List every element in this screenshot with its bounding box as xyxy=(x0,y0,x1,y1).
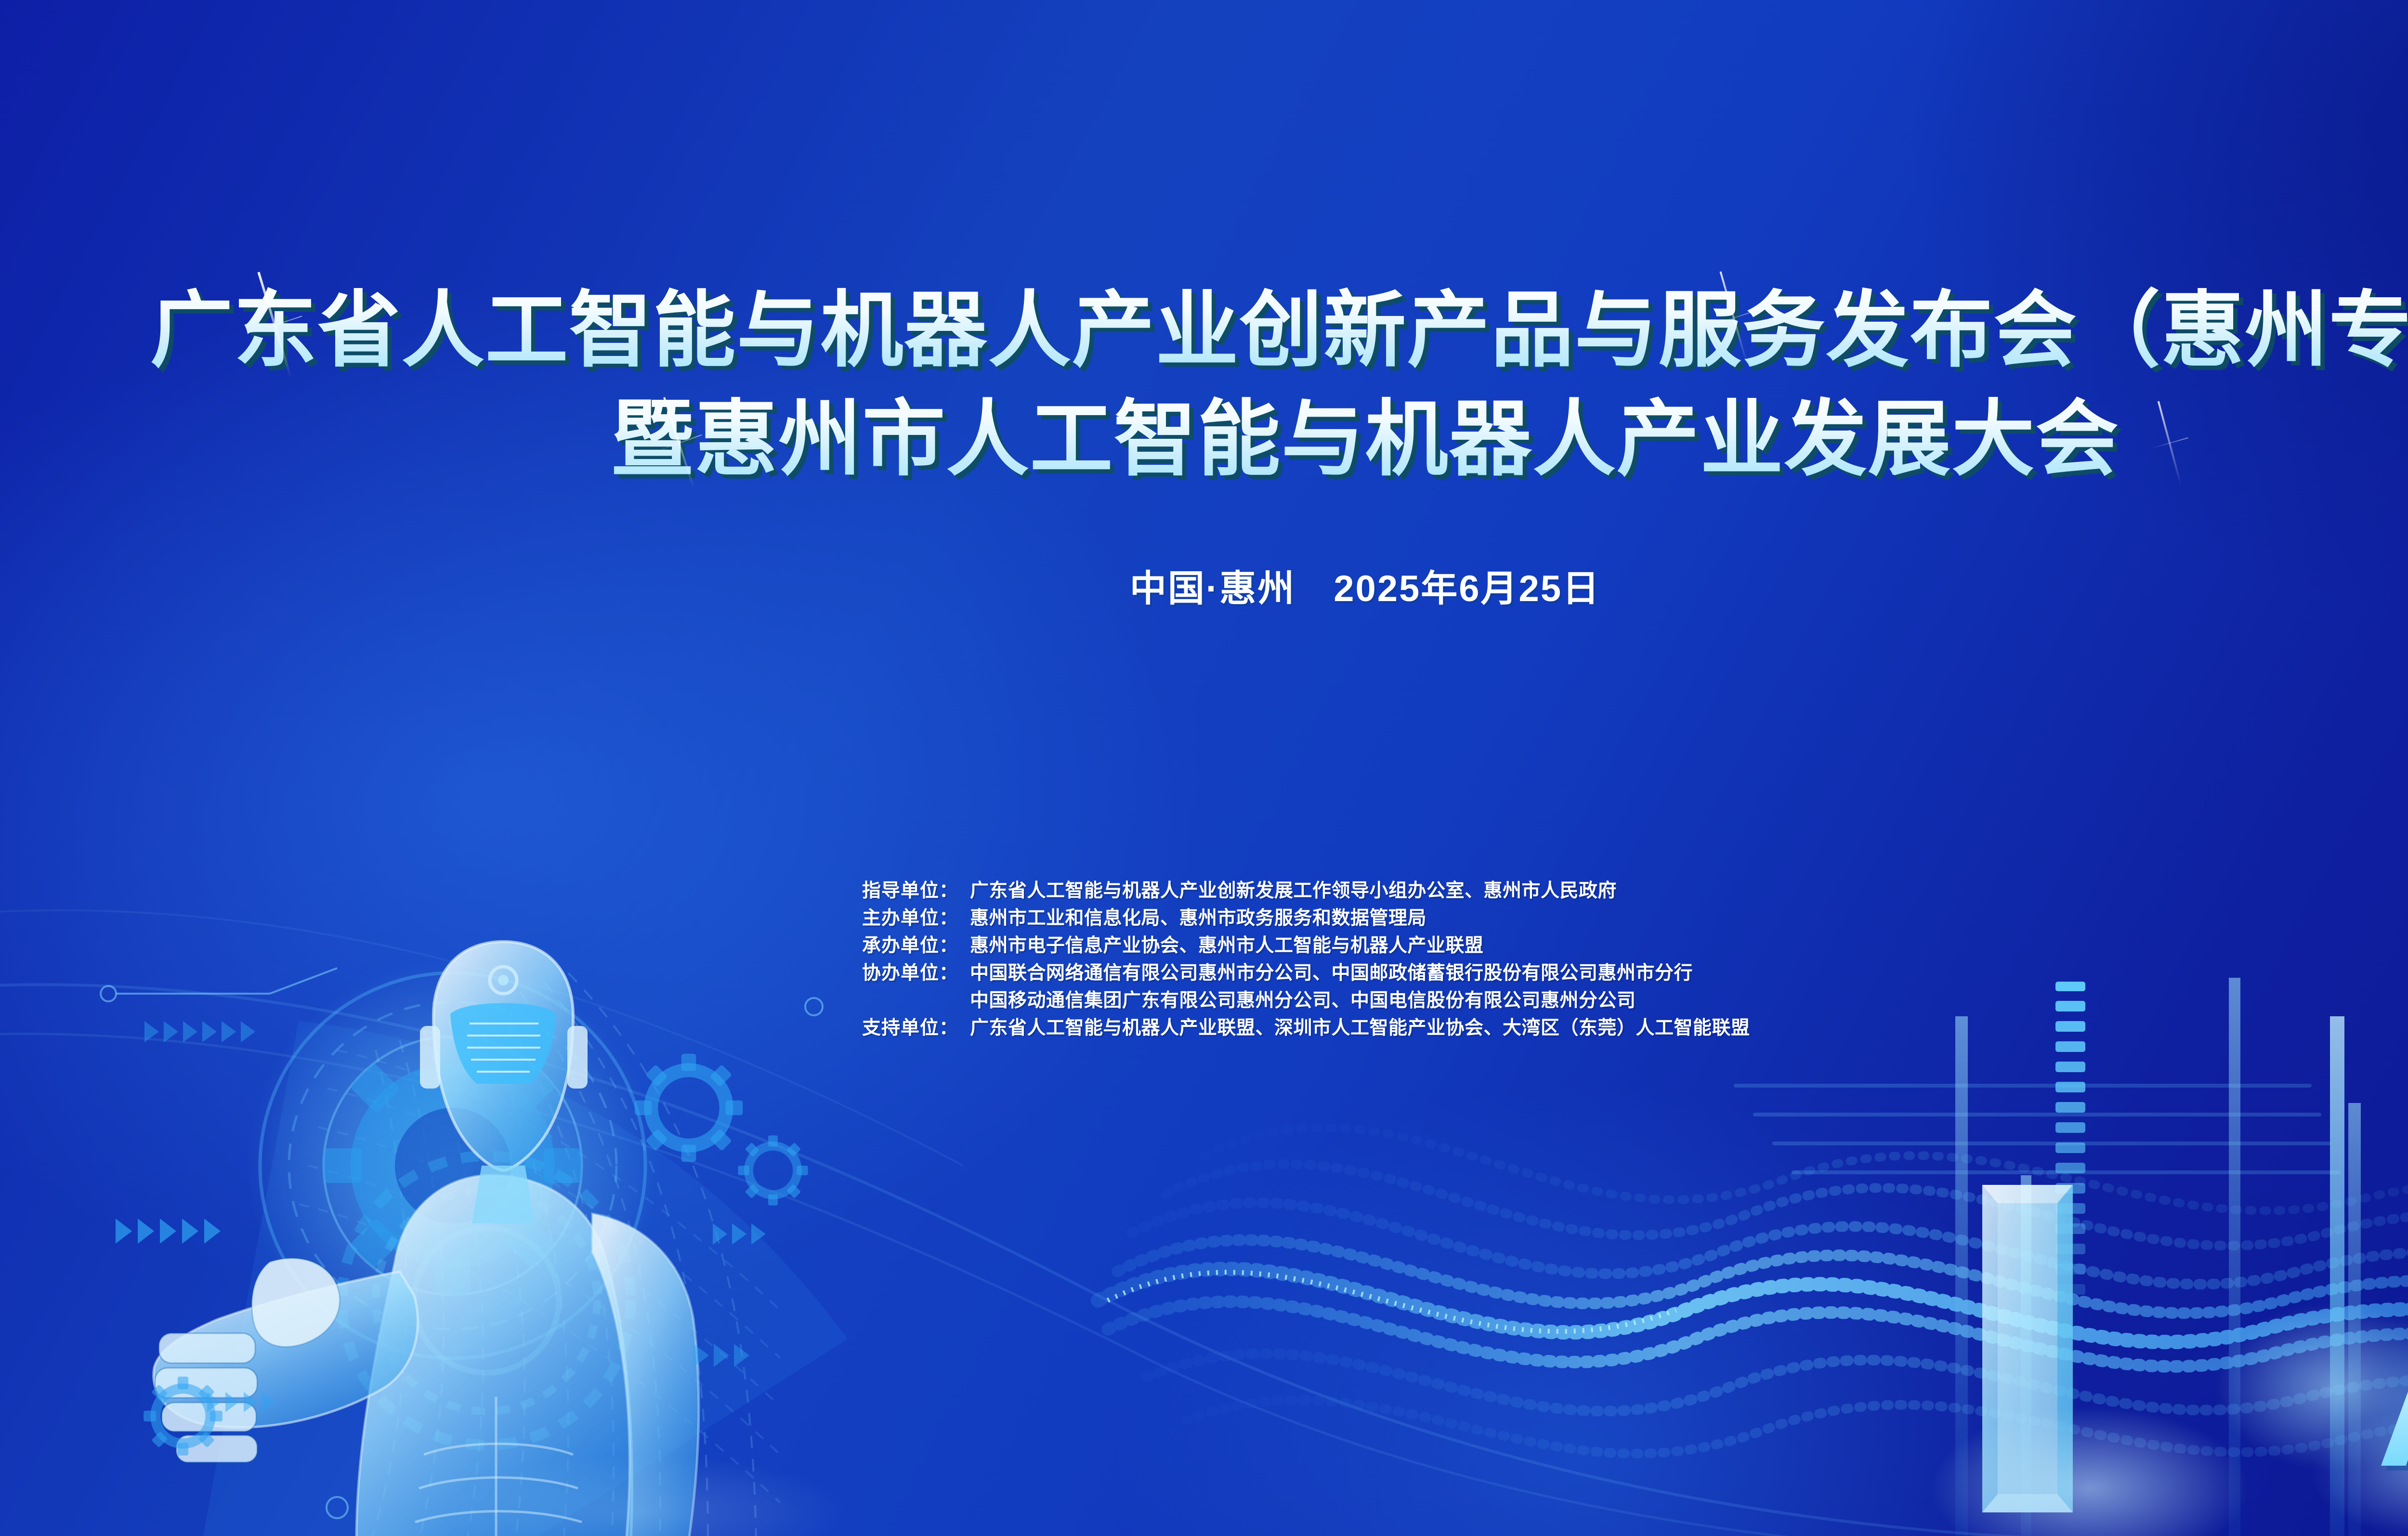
organizer-value: 广东省人工智能与机器人产业联盟、深圳市人工智能产业协会、大湾区（东莞）人工智能联… xyxy=(970,1013,1750,1040)
segmented-bar xyxy=(2055,982,2085,1295)
organizer-row: 支持单位： 广东省人工智能与机器人产业联盟、深圳市人工智能产业协会、大湾区（东莞… xyxy=(799,1013,1750,1040)
node-markers xyxy=(101,968,823,1518)
organizer-value: 中国移动通信集团广东有限公司惠州分公司、中国电信股份有限公司惠州分公司 xyxy=(970,985,1636,1012)
glass-block-bar xyxy=(1982,1185,2073,1512)
diagonal-sheet xyxy=(202,1021,848,1536)
organizer-row: 协办单位： 中国联合网络通信有限公司惠州市分公司、中国邮政储蓄银行股份有限公司惠… xyxy=(799,958,1750,985)
radial-dashed-fan xyxy=(299,973,780,1536)
organizer-label: 支持单位： xyxy=(799,1013,958,1040)
humanoid-robot-figure xyxy=(154,942,699,1536)
background-art xyxy=(0,0,2408,1536)
chevron-arrow-clusters xyxy=(116,1021,766,1412)
organizer-label: 指导单位： xyxy=(799,876,958,903)
gear-icon xyxy=(351,1063,555,1268)
subtitle: 中国·惠州 2025年6月25日 xyxy=(0,559,2408,612)
organizer-label: 承办单位： xyxy=(799,931,958,958)
organizer-value: 广东省人工智能与机器人产业创新发展工作领导小组办公室、惠州市人民政府 xyxy=(970,876,1617,903)
organizer-row: 主办单位： 惠州市工业和信息化局、惠州市政务服务和数据管理局 xyxy=(799,903,1750,931)
organizer-list: 指导单位： 广东省人工智能与机器人产业创新发展工作领导小组办公室、惠州市人民政府… xyxy=(799,876,1750,1040)
organizer-value: 惠州市工业和信息化局、惠州市政务服务和数据管理局 xyxy=(970,903,1426,930)
page-title-line-1: 广东省人工智能与机器人产业创新产品与服务发布会（惠州专场） xyxy=(0,279,2408,381)
ai-logo: AI xyxy=(2377,1319,2408,1493)
page-title-line-2: 暨惠州市人工智能与机器人产业发展大会 xyxy=(0,388,2408,490)
gear-icons xyxy=(127,1031,822,1471)
circular-hud-rings xyxy=(246,958,660,1373)
organizer-label: 主办单位： xyxy=(799,903,958,930)
organizer-value: 惠州市电子信息产业协会、惠州市人工智能与机器人产业联盟 xyxy=(970,931,1484,958)
dotted-curtain xyxy=(1734,1084,2341,1174)
organizer-row-continuation: 协办单位： 中国移动通信集团广东有限公司惠州分公司、中国电信股份有限公司惠州分公… xyxy=(799,985,1750,1013)
organizer-row: 指导单位： 广东省人工智能与机器人产业创新发展工作领导小组办公室、惠州市人民政府 xyxy=(799,876,1750,903)
organizer-value: 中国联合网络通信有限公司惠州市分公司、中国邮政储蓄银行股份有限公司惠州市分行 xyxy=(970,958,1693,985)
conference-banner: 广东省人工智能与机器人产业创新产品与服务发布会（惠州专场） 暨惠州市人工智能与机… xyxy=(0,0,2408,1536)
title-block: 广东省人工智能与机器人产业创新产品与服务发布会（惠州专场） 暨惠州市人工智能与机… xyxy=(0,279,2408,490)
bottom-glow xyxy=(1931,1406,2249,1536)
organizer-row: 承办单位： 惠州市电子信息产业协会、惠州市人工智能与机器人产业联盟 xyxy=(799,931,1750,958)
gear-teeth xyxy=(270,983,635,1348)
bottom-glow xyxy=(443,1455,848,1536)
chest-hud-arcs xyxy=(342,1156,631,1445)
organizer-label: 协办单位： xyxy=(799,958,958,985)
